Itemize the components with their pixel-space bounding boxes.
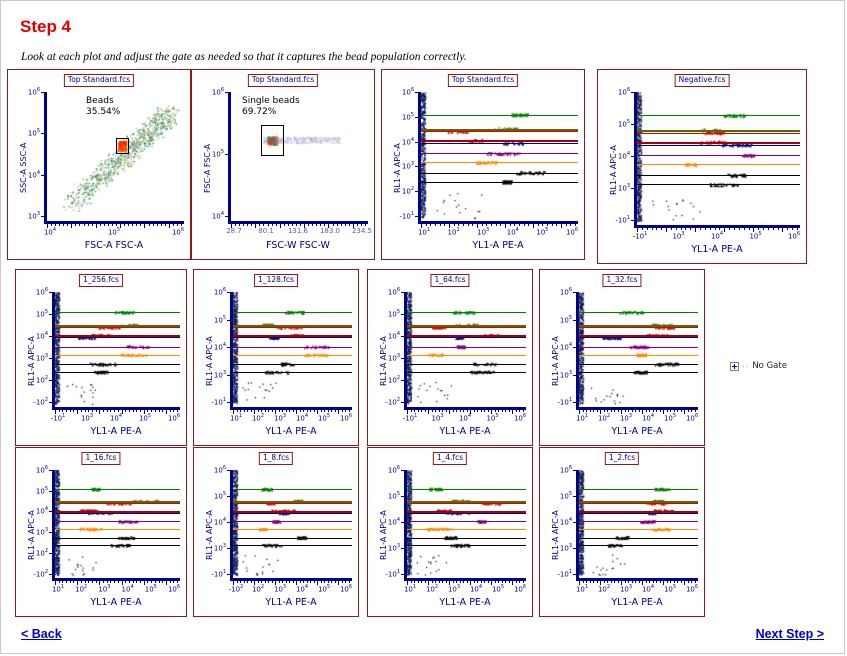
gate-threshold-line[interactable] [579, 327, 698, 328]
gate-threshold-line[interactable] [55, 347, 180, 348]
plot-panel[interactable]: 1_32.fcs106105104103-1011011021031041051… [539, 269, 705, 446]
gate-threshold-line[interactable] [55, 355, 180, 356]
gate-threshold-line[interactable] [407, 521, 526, 522]
gate-threshold-line[interactable] [421, 153, 578, 154]
gate-threshold-line[interactable] [55, 372, 180, 373]
gate-threshold-line[interactable] [579, 347, 698, 348]
legend-dots: ·· [742, 362, 749, 371]
page-title: Step 4 [20, 17, 71, 37]
gate-threshold-line[interactable] [421, 173, 578, 174]
gate-stats-label: Beads35.54% [86, 96, 120, 118]
scatter-dots [598, 70, 808, 265]
gate-threshold-line[interactable] [637, 115, 800, 116]
scatter-dots [382, 70, 586, 261]
gate-threshold-line[interactable] [407, 513, 526, 514]
gate-stats-label: Single beads69.72% [242, 96, 300, 118]
scatter-dots [194, 448, 360, 618]
gate-threshold-line[interactable] [233, 337, 352, 338]
gate-threshold-line[interactable] [407, 489, 526, 490]
gate-threshold-line[interactable] [421, 131, 578, 132]
gate-threshold-line[interactable] [407, 355, 526, 356]
gate-threshold-line[interactable] [579, 312, 698, 313]
scatter-dots [16, 270, 188, 447]
gate-threshold-line[interactable] [579, 372, 698, 373]
gate-threshold-line[interactable] [407, 545, 526, 546]
gate-threshold-line[interactable] [55, 513, 180, 514]
plot-panel[interactable]: 1_16.fcs106105104103102-1021011021031041… [15, 447, 187, 617]
gate-threshold-line[interactable] [407, 312, 526, 313]
gate-threshold-line[interactable] [579, 529, 698, 530]
gate-threshold-line[interactable] [637, 155, 800, 156]
gate-rectangle[interactable] [261, 125, 284, 157]
wizard-page: Step 4 Look at each plot and adjust the … [0, 0, 845, 654]
gate-threshold-line[interactable] [637, 184, 800, 185]
scatter-dots [368, 448, 534, 618]
plot-panel[interactable]: Negative.fcs106105104103-101-10110310410… [597, 69, 807, 264]
gate-threshold-line[interactable] [579, 545, 698, 546]
plot-panel[interactable]: Top Standard.fcs106105104103102-10110110… [381, 69, 585, 260]
scatter-dots [540, 448, 706, 618]
gate-threshold-line[interactable] [579, 489, 698, 490]
scatter-dots [368, 270, 534, 447]
gate-threshold-line[interactable] [55, 312, 180, 313]
gate-threshold-line[interactable] [233, 364, 352, 365]
gate-threshold-line[interactable] [233, 312, 352, 313]
gate-threshold-line[interactable] [579, 355, 698, 356]
gate-threshold-line[interactable] [233, 355, 352, 356]
gate-name: Single beads [242, 96, 300, 107]
gate-threshold-line[interactable] [407, 347, 526, 348]
plot-panel[interactable]: 1_2.fcs106105104103-10110110210310410510… [539, 447, 705, 617]
plot-panel[interactable]: 1_4.fcs106105104103-10110110210310410510… [367, 447, 533, 617]
plot-panel[interactable]: Top Standard.fcs10610510428.780.1131.618… [191, 69, 375, 260]
gate-rectangle[interactable] [116, 138, 129, 154]
gate-threshold-line[interactable] [421, 115, 578, 116]
scatter-dots [540, 270, 706, 447]
gate-threshold-line[interactable] [579, 513, 698, 514]
gate-threshold-line[interactable] [233, 372, 352, 373]
gate-threshold-line[interactable] [407, 538, 526, 539]
gate-threshold-line[interactable] [637, 145, 800, 146]
gate-threshold-line[interactable] [637, 175, 800, 176]
gate-threshold-line[interactable] [233, 327, 352, 328]
gate-threshold-line[interactable] [407, 364, 526, 365]
gate-threshold-line[interactable] [579, 538, 698, 539]
gate-threshold-line[interactable] [233, 489, 352, 490]
gate-threshold-line[interactable] [233, 529, 352, 530]
gate-threshold-line[interactable] [55, 337, 180, 338]
gate-threshold-line[interactable] [407, 337, 526, 338]
gate-threshold-line[interactable] [579, 364, 698, 365]
gate-threshold-line[interactable] [233, 521, 352, 522]
gate-threshold-line[interactable] [233, 347, 352, 348]
legend-label: No Gate [752, 361, 787, 371]
gate-threshold-line[interactable] [55, 489, 180, 490]
gate-threshold-line[interactable] [233, 513, 352, 514]
gate-threshold-line[interactable] [421, 162, 578, 163]
gate-threshold-line[interactable] [233, 503, 352, 504]
gate-threshold-line[interactable] [579, 521, 698, 522]
gate-threshold-line[interactable] [407, 503, 526, 504]
plot-panel[interactable]: 1_256.fcs106105104103102-102-10110310410… [15, 269, 187, 446]
gate-threshold-line[interactable] [579, 337, 698, 338]
scatter-dots [194, 270, 360, 447]
plus-box-icon[interactable] [730, 362, 739, 371]
gate-threshold-line[interactable] [637, 164, 800, 165]
back-button[interactable]: < Back [21, 627, 62, 641]
gate-threshold-line[interactable] [421, 143, 578, 144]
gate-legend[interactable]: ·· No Gate [730, 361, 787, 371]
gate-threshold-line[interactable] [407, 529, 526, 530]
gate-threshold-line[interactable] [55, 327, 180, 328]
next-step-button[interactable]: Next Step > [756, 627, 824, 641]
plot-panel[interactable]: 1_64.fcs106105104103102-102-101103104105… [367, 269, 533, 446]
plot-panel[interactable]: 1_8.fcs106105104103-101-1021021031041051… [193, 447, 359, 617]
gate-threshold-line[interactable] [55, 545, 180, 546]
gate-percent: 35.54% [86, 107, 120, 118]
gate-threshold-line[interactable] [421, 182, 578, 183]
plot-panel[interactable]: Top Standard.fcs106105104103104105106SSC… [7, 69, 191, 260]
plot-panel[interactable]: 1_128.fcs106105104103-101101102103104105… [193, 269, 359, 446]
gate-threshold-line[interactable] [579, 503, 698, 504]
gate-percent: 69.72% [242, 107, 300, 118]
gate-threshold-line[interactable] [55, 521, 180, 522]
gate-threshold-line[interactable] [55, 364, 180, 365]
gate-threshold-line[interactable] [407, 372, 526, 373]
gate-threshold-line[interactable] [55, 503, 180, 504]
gate-name: Beads [86, 96, 120, 107]
gate-threshold-line[interactable] [55, 529, 180, 530]
gate-threshold-line[interactable] [407, 327, 526, 328]
gate-threshold-line[interactable] [233, 545, 352, 546]
instruction-text: Look at each plot and adjust the gate as… [21, 51, 467, 63]
gate-threshold-line[interactable] [55, 538, 180, 539]
scatter-dots [16, 448, 188, 618]
gate-threshold-line[interactable] [637, 133, 800, 134]
gate-threshold-line[interactable] [233, 538, 352, 539]
